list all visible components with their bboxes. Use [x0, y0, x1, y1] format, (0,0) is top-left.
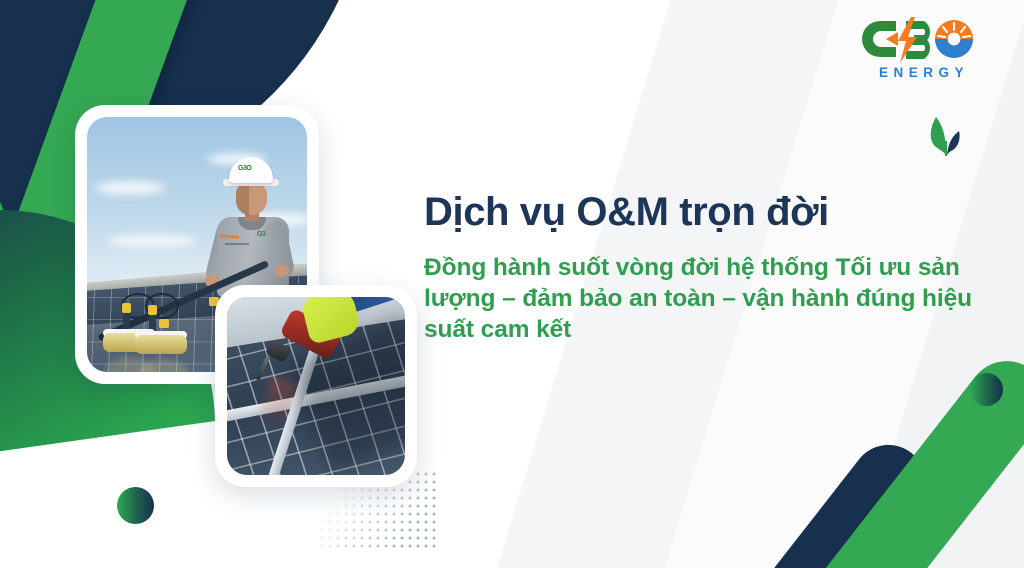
- page-title: Dịch vụ O&M trọn đời: [424, 190, 984, 236]
- rotary-brush: [135, 335, 187, 354]
- logo-wordmark: ENERGY: [862, 65, 986, 80]
- cloud-shape: [107, 235, 197, 247]
- om-service-banner: G3O G3O: [0, 0, 1024, 568]
- photo-drilling-technician: [227, 297, 405, 475]
- brush-cap: [122, 303, 131, 313]
- g3o-logo-mark: [862, 17, 986, 65]
- helmet-logo: G3O: [238, 165, 251, 172]
- face-shadow: [236, 181, 249, 215]
- brush-cap: [148, 305, 157, 315]
- leaf-sprout-icon: [924, 105, 970, 157]
- pocket-line: [225, 243, 249, 245]
- gradient-dot-bottom-left: [117, 487, 154, 524]
- gradient-dot-bottom-right: [970, 373, 1003, 406]
- pole-grip: [159, 319, 169, 328]
- cloud-shape: [95, 181, 165, 195]
- photo-card-drilling: [215, 285, 417, 487]
- brand-logo[interactable]: ENERGY: [862, 17, 986, 89]
- page-subtitle: Đồng hành suốt vòng đời hệ thống Tối ưu …: [424, 253, 987, 346]
